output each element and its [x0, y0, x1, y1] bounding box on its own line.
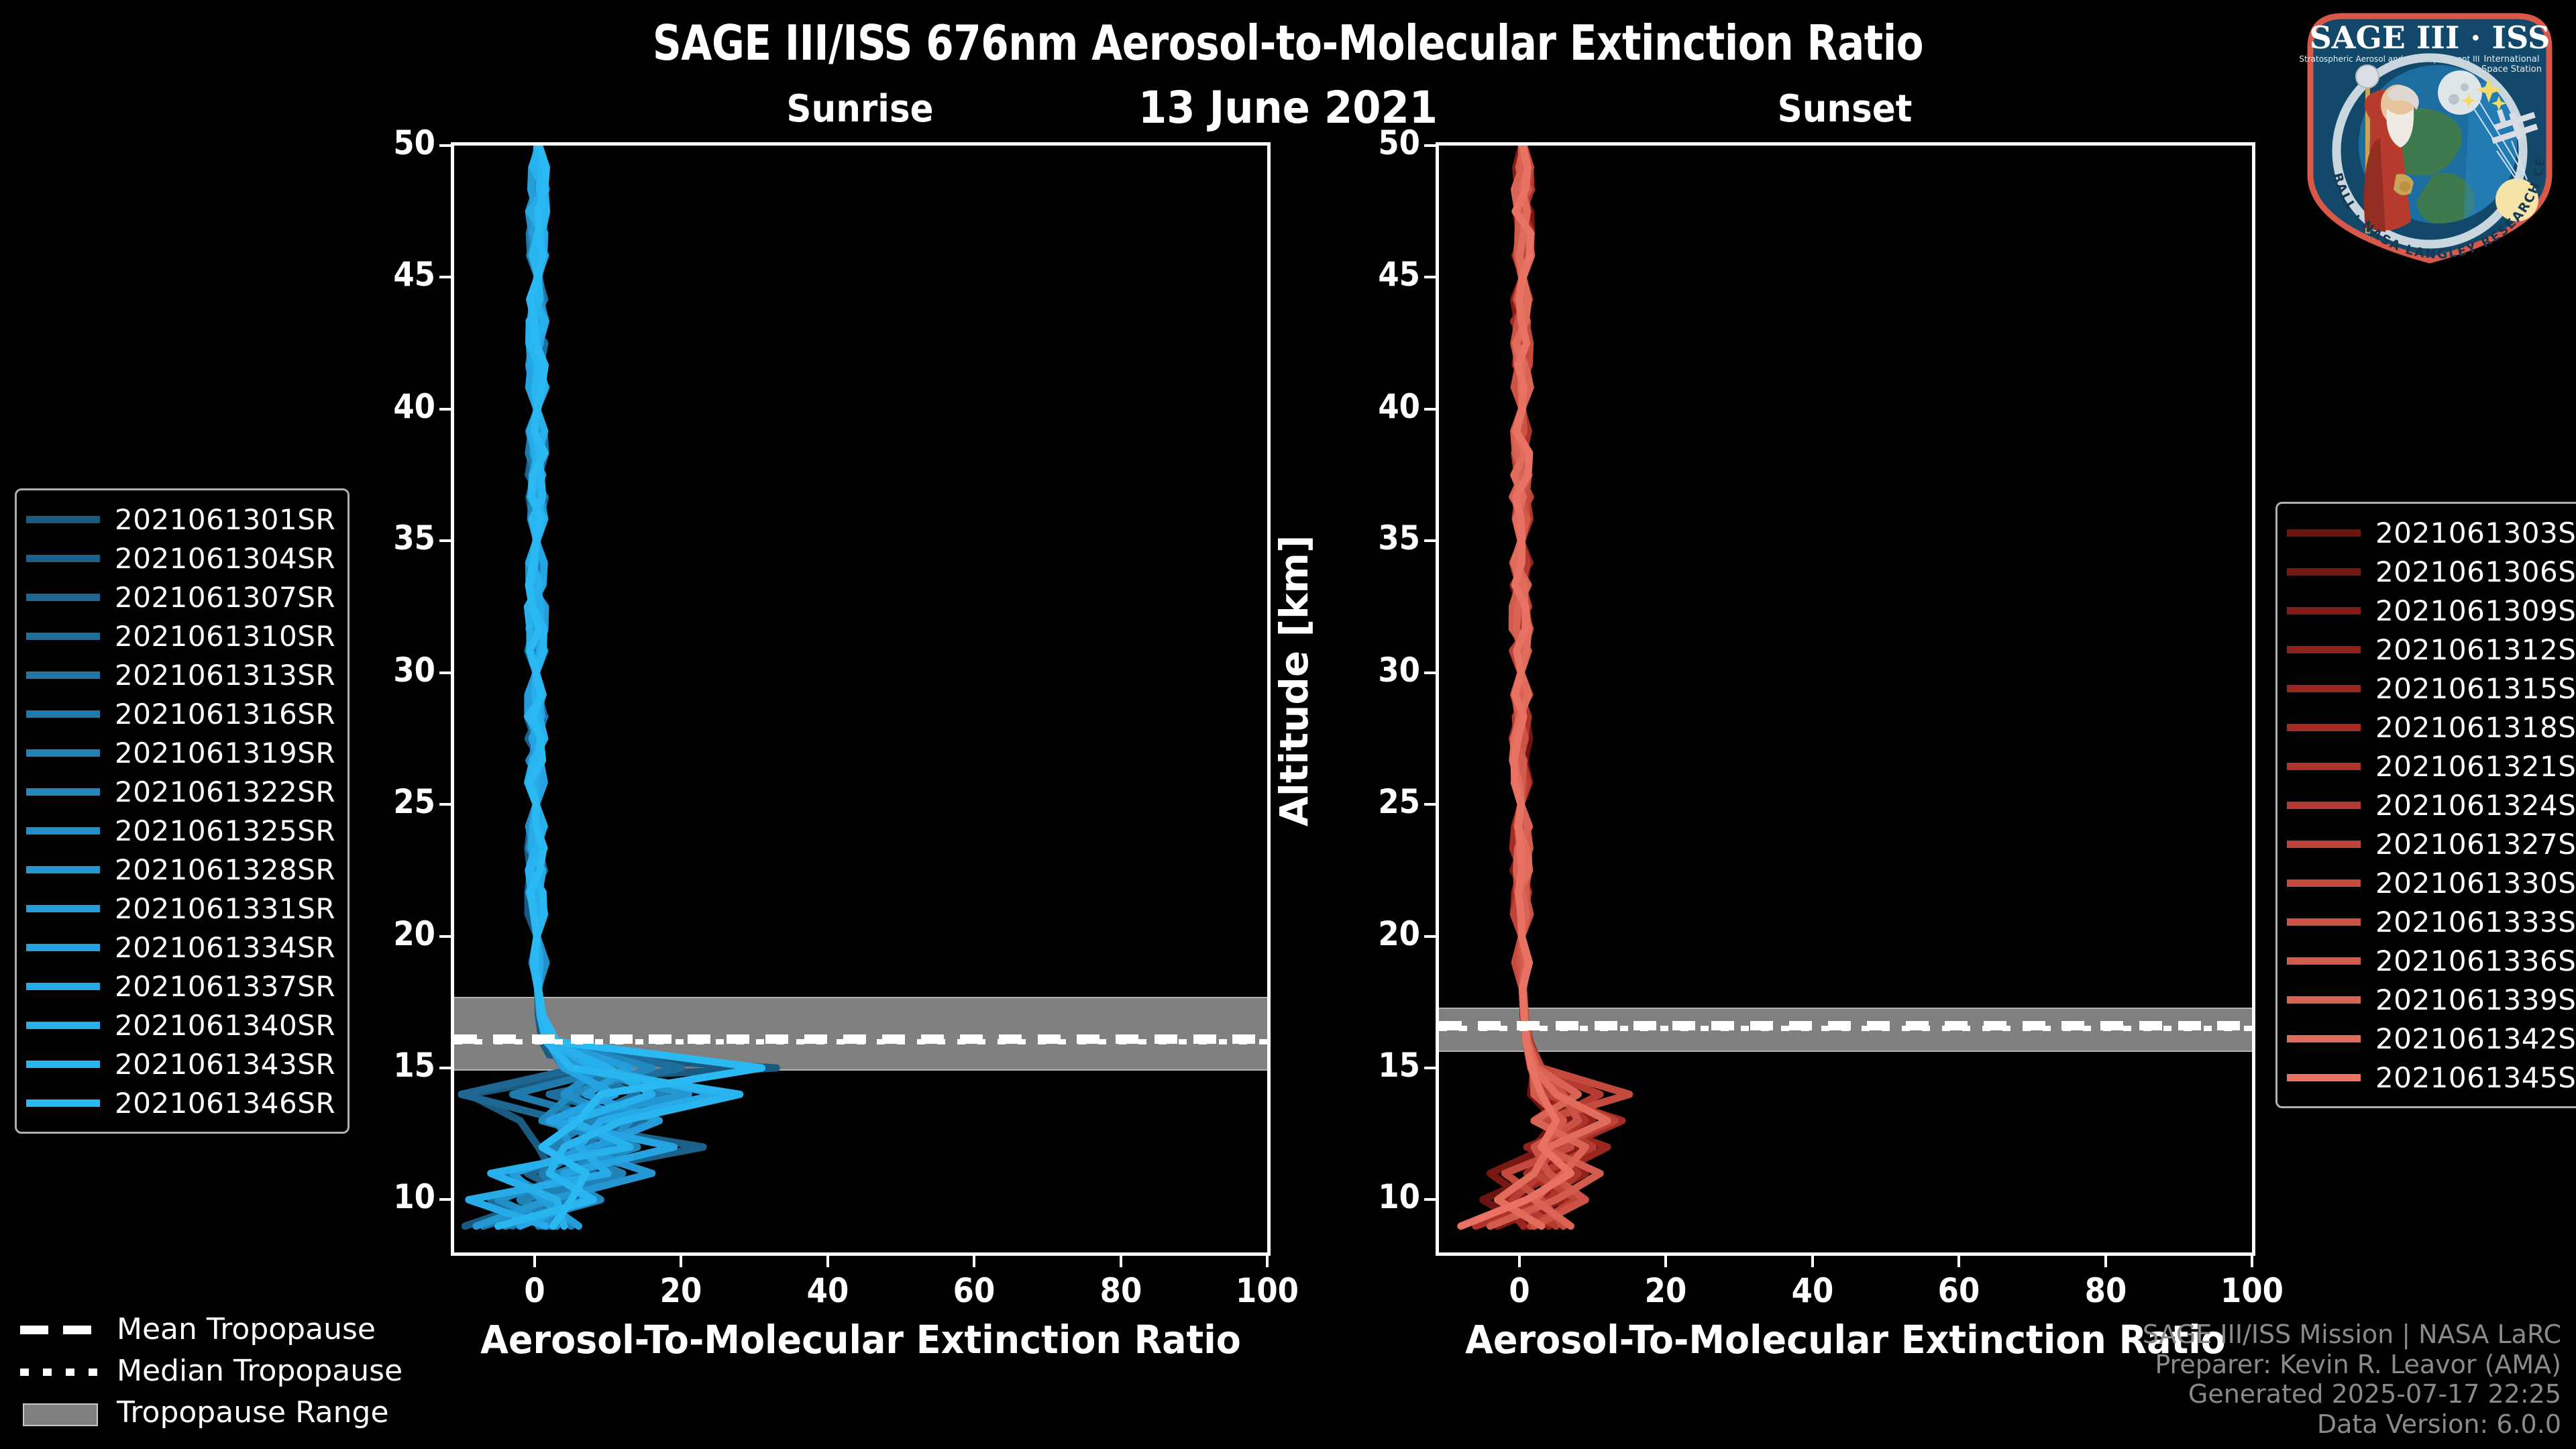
- legend-color-swatch: [26, 710, 100, 718]
- legend-item[interactable]: 2021061321SS: [2287, 747, 2576, 786]
- legend-color-swatch: [26, 905, 100, 912]
- legend-item[interactable]: 2021061334SR: [26, 928, 335, 967]
- credit-line-version: Data Version: 6.0.0: [2143, 1409, 2561, 1440]
- y-axis-tick: [1424, 672, 1439, 674]
- legend-item[interactable]: 2021061339SS: [2287, 980, 2576, 1019]
- y-axis-tick: [439, 1198, 454, 1201]
- y-axis-tick: [1424, 539, 1439, 542]
- legend-label: 2021061312SS: [2375, 633, 2576, 666]
- y-axis-tick-label: 35: [345, 519, 435, 557]
- legend-label: Mean Tropopause: [117, 1312, 376, 1346]
- y-axis-tick-label: 30: [345, 651, 435, 690]
- legend-item[interactable]: 2021061324SS: [2287, 786, 2576, 824]
- x-axis-title: Aerosol-To-Molecular Extinction Ratio: [424, 1317, 1297, 1362]
- y-axis-tick: [439, 408, 454, 411]
- y-axis-tick: [439, 276, 454, 278]
- y-axis-tick-label: 10: [1330, 1177, 1420, 1216]
- legend-color-swatch: [26, 516, 100, 523]
- legend-item[interactable]: 2021061306SS: [2287, 552, 2576, 591]
- page-title: SAGE III/ISS 676nm Aerosol-to-Molecular …: [103, 15, 2473, 71]
- svg-text:International: International: [2484, 54, 2540, 64]
- x-axis-tick: [680, 1252, 682, 1267]
- legend-label: 2021061313SR: [115, 659, 335, 692]
- x-axis-tick: [2104, 1252, 2107, 1267]
- legend-item[interactable]: 2021061346SR: [26, 1083, 335, 1122]
- sunset-plot-area: [1439, 146, 2252, 1252]
- y-axis-tick: [1424, 144, 1439, 147]
- x-axis-tick-label: 20: [633, 1271, 729, 1310]
- legend-color-swatch: [26, 944, 100, 951]
- legend-item[interactable]: 2021061330SS: [2287, 863, 2576, 902]
- legend-item[interactable]: 2021061327SS: [2287, 824, 2576, 863]
- legend-color-swatch: [26, 672, 100, 679]
- legend-item[interactable]: 2021061319SR: [26, 733, 335, 772]
- legend-label: 2021061336SS: [2375, 945, 2576, 977]
- median-tropopause-line: [454, 1039, 1267, 1044]
- y-axis-tick-label: 30: [1330, 651, 1420, 690]
- legend-label: 2021061319SR: [115, 737, 335, 769]
- legend-item[interactable]: 2021061304SR: [26, 539, 335, 578]
- legend-item[interactable]: 2021061331SR: [26, 889, 335, 928]
- legend-item[interactable]: 2021061318SS: [2287, 708, 2576, 747]
- y-axis-tick-label: 50: [345, 123, 435, 162]
- x-axis-tick: [1518, 1252, 1521, 1267]
- legend-label: 2021061330SS: [2375, 867, 2576, 900]
- dotted-line-icon: [20, 1359, 99, 1382]
- legend-label: 2021061301SR: [115, 503, 335, 536]
- legend-label: 2021061306SS: [2375, 555, 2576, 588]
- y-axis-tick: [439, 539, 454, 542]
- y-axis-tick-label: 10: [345, 1177, 435, 1216]
- sunrise-plot: [451, 142, 1271, 1256]
- legend-color-swatch: [2287, 879, 2361, 887]
- legend-item[interactable]: 2021061301SR: [26, 500, 335, 539]
- legend-color-swatch: [2287, 996, 2361, 1004]
- y-axis-tick-label: 15: [345, 1046, 435, 1085]
- legend-color-swatch: [2287, 607, 2361, 614]
- legend-color-swatch: [2287, 841, 2361, 848]
- y-axis-tick-label: 45: [345, 255, 435, 294]
- x-axis-tick-label: 20: [1617, 1271, 1714, 1310]
- y-axis-tick: [439, 672, 454, 674]
- legend-label: 2021061333SS: [2375, 906, 2576, 938]
- legend-item[interactable]: 2021061325SR: [26, 811, 335, 850]
- legend-color-swatch: [26, 594, 100, 601]
- y-axis-tick: [1424, 408, 1439, 411]
- legend-label: Median Tropopause: [117, 1354, 402, 1388]
- legend-label: 2021061327SS: [2375, 828, 2576, 861]
- x-axis-tick-label: 80: [1073, 1271, 1169, 1310]
- x-axis-tick: [1664, 1252, 1667, 1267]
- y-axis-tick-label: 20: [1330, 914, 1420, 953]
- x-axis-tick: [533, 1252, 536, 1267]
- legend-label: 2021061340SR: [115, 1009, 335, 1042]
- page-subtitle: 13 June 2021: [103, 82, 2473, 133]
- x-axis-tick-label: 60: [926, 1271, 1022, 1310]
- legend-item[interactable]: 2021061322SR: [26, 772, 335, 811]
- x-axis-tick: [1266, 1252, 1269, 1267]
- y-axis-tick: [1424, 935, 1439, 938]
- legend-item[interactable]: 2021061313SR: [26, 655, 335, 694]
- legend-color-swatch: [2287, 1074, 2361, 1081]
- legend-color-swatch: [26, 1061, 100, 1068]
- legend-label: 2021061346SR: [115, 1087, 335, 1120]
- svg-text:SAGE III · ISS: SAGE III · ISS: [2310, 19, 2551, 56]
- legend-color-swatch: [2287, 1035, 2361, 1042]
- median-tropopause-line: [1439, 1026, 2252, 1031]
- y-axis-tick: [1424, 803, 1439, 806]
- legend-color-swatch: [26, 827, 100, 835]
- legend-item[interactable]: 2021061309SS: [2287, 591, 2576, 630]
- y-axis-tick: [1424, 1198, 1439, 1201]
- legend-item[interactable]: 2021061307SR: [26, 578, 335, 616]
- profile-lines: [1439, 146, 2252, 1252]
- legend-color-swatch: [26, 1099, 100, 1107]
- x-axis-tick: [2251, 1252, 2253, 1267]
- x-axis-tick-label: 40: [1764, 1271, 1861, 1310]
- legend-label: 2021061318SS: [2375, 711, 2576, 744]
- sunset-legend[interactable]: 2021061303SS2021061306SS2021061309SS2021…: [2275, 502, 2576, 1108]
- legend-label: 2021061331SR: [115, 892, 335, 925]
- legend-item[interactable]: 2021061312SS: [2287, 630, 2576, 669]
- legend-label: 2021061310SR: [115, 620, 335, 653]
- sunset-panel-title: Sunset: [1660, 87, 2030, 131]
- legend-item[interactable]: 2021061340SR: [26, 1006, 335, 1044]
- y-axis-tick: [439, 803, 454, 806]
- legend-color-swatch: [2287, 918, 2361, 926]
- x-axis-tick-label: 0: [1471, 1271, 1568, 1310]
- legend-label: 2021061334SR: [115, 931, 335, 964]
- profile-lines: [454, 146, 1267, 1252]
- legend-color-swatch: [26, 749, 100, 757]
- credit-line-preparer: Preparer: Kevin R. Leavor (AMA): [2143, 1350, 2561, 1380]
- legend-label: 2021061321SS: [2375, 750, 2576, 783]
- y-axis-tick-label: 35: [1330, 519, 1420, 557]
- legend-label: 2021061342SS: [2375, 1022, 2576, 1055]
- legend-color-swatch: [26, 866, 100, 873]
- legend-color-swatch: [2287, 957, 2361, 965]
- legend-color-swatch: [2287, 685, 2361, 692]
- legend-item[interactable]: 2021061337SR: [26, 967, 335, 1006]
- x-axis-tick: [826, 1252, 829, 1267]
- x-axis-tick: [1811, 1252, 1814, 1267]
- legend-color-swatch: [2287, 646, 2361, 653]
- credit-line-mission: SAGE III/ISS Mission | NASA LaRC: [2143, 1320, 2561, 1350]
- y-axis-tick: [1424, 1067, 1439, 1069]
- legend-label: 2021061328SR: [115, 853, 335, 886]
- legend-item[interactable]: 2021061303SS: [2287, 513, 2576, 552]
- y-axis-tick-label: 40: [345, 387, 435, 426]
- x-axis-tick: [1120, 1252, 1122, 1267]
- legend-color-swatch: [26, 983, 100, 990]
- y-axis-tick: [1424, 276, 1439, 278]
- legend-label: 2021061303SS: [2375, 517, 2576, 549]
- y-axis-tick-label: 25: [1330, 782, 1420, 821]
- legend-color-swatch: [26, 555, 100, 562]
- legend-color-swatch: [2287, 529, 2361, 537]
- x-axis-tick: [1957, 1252, 1960, 1267]
- legend-item[interactable]: 2021061316SR: [26, 694, 335, 733]
- y-axis-title: Altitude [km]: [1271, 535, 1317, 826]
- sunrise-plot-area: [454, 146, 1267, 1252]
- y-axis-tick-label: 45: [1330, 255, 1420, 294]
- legend-color-swatch: [2287, 568, 2361, 576]
- x-axis-tick: [973, 1252, 975, 1267]
- credits-block: SAGE III/ISS Mission | NASA LaRC Prepare…: [2143, 1320, 2561, 1440]
- legend-label: 2021061324SS: [2375, 789, 2576, 822]
- band-swatch-icon: [20, 1401, 99, 1424]
- legend-color-swatch: [26, 633, 100, 640]
- y-axis-tick-label: 25: [345, 782, 435, 821]
- y-axis-tick-label: 15: [1330, 1046, 1420, 1085]
- legend-label: 2021061339SS: [2375, 983, 2576, 1016]
- legend-item[interactable]: 2021061333SS: [2287, 902, 2576, 941]
- legend-label: 2021061304SR: [115, 542, 335, 575]
- legend-color-swatch: [2287, 763, 2361, 770]
- legend-color-swatch: [2287, 724, 2361, 731]
- legend-label: 2021061322SR: [115, 775, 335, 808]
- y-axis-tick: [439, 144, 454, 147]
- legend-item[interactable]: 2021061310SR: [26, 616, 335, 655]
- credit-line-generated: Generated 2025-07-17 22:25: [2143, 1379, 2561, 1409]
- svg-text:Space Station: Space Station: [2481, 64, 2542, 74]
- legend-label: 2021061307SR: [115, 581, 335, 614]
- legend-item[interactable]: 2021061328SR: [26, 850, 335, 889]
- legend-label: Tropopause Range: [117, 1395, 389, 1430]
- legend-label: 2021061325SR: [115, 814, 335, 847]
- legend-label: 2021061345SS: [2375, 1061, 2576, 1094]
- tropopause-legend: Mean Tropopause Median Tropopause Tropop…: [20, 1308, 402, 1433]
- legend-color-swatch: [26, 1022, 100, 1029]
- y-axis-tick-label: 40: [1330, 387, 1420, 426]
- legend-label: 2021061343SR: [115, 1048, 335, 1081]
- x-axis-tick-label: 100: [2204, 1271, 2300, 1310]
- legend-item-mean-tropopause: Mean Tropopause: [20, 1308, 402, 1350]
- dashed-line-icon: [20, 1318, 99, 1340]
- legend-color-swatch: [2287, 802, 2361, 809]
- legend-label: 2021061315SS: [2375, 672, 2576, 705]
- profile-line: [1490, 146, 1600, 1226]
- x-axis-tick-label: 40: [780, 1271, 876, 1310]
- legend-label: 2021061337SR: [115, 970, 335, 1003]
- x-axis-tick-label: 60: [1911, 1271, 2007, 1310]
- y-axis-tick: [439, 1067, 454, 1069]
- legend-item[interactable]: 2021061343SR: [26, 1044, 335, 1083]
- legend-item[interactable]: 2021061315SS: [2287, 669, 2576, 708]
- legend-item-median-tropopause: Median Tropopause: [20, 1350, 402, 1391]
- sunset-plot: [1436, 142, 2255, 1256]
- y-axis-tick: [439, 935, 454, 938]
- legend-item[interactable]: 2021061336SS: [2287, 941, 2576, 980]
- legend-item[interactable]: 2021061345SS: [2287, 1058, 2576, 1097]
- x-axis-tick-label: 0: [486, 1271, 583, 1310]
- sunrise-legend[interactable]: 2021061301SR2021061304SR2021061307SR2021…: [15, 488, 350, 1134]
- x-axis-tick-label: 80: [2057, 1271, 2154, 1310]
- legend-item-tropopause-range: Tropopause Range: [20, 1391, 402, 1433]
- legend-label: 2021061309SS: [2375, 594, 2576, 627]
- x-axis-tick-label: 100: [1219, 1271, 1316, 1310]
- legend-color-swatch: [26, 788, 100, 796]
- y-axis-tick-label: 50: [1330, 123, 1420, 162]
- sage-iii-iss-logo: SAGE III · ISS Stratospheric Aerosol and…: [2296, 7, 2564, 265]
- sunrise-panel-title: Sunrise: [675, 87, 1045, 131]
- y-axis-tick-label: 20: [345, 914, 435, 953]
- legend-label: 2021061316SR: [115, 698, 335, 731]
- legend-item[interactable]: 2021061342SS: [2287, 1019, 2576, 1058]
